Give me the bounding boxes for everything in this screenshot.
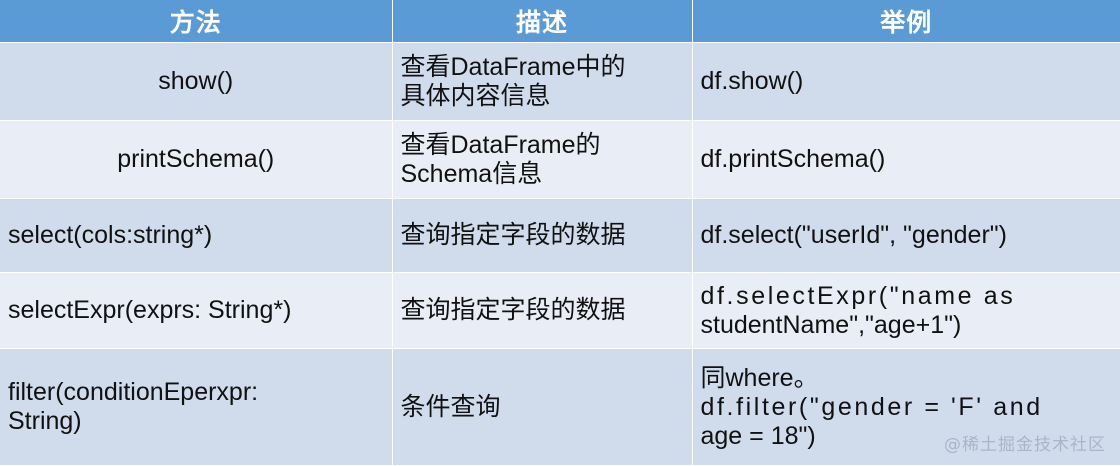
example-line: 同where。 [701,364,1113,393]
cell-method: filter(conditionEperxpr: String) [0,349,392,466]
api-method-table: 方法 描述 举例 show() 查看DataFrame中的 具体内容信息 df.… [0,0,1120,466]
description-line: 查询指定字段的数据 [401,221,684,250]
cell-method: show() [0,43,392,121]
cell-method: select(cols:string*) [0,199,392,273]
description-line: 查看DataFrame中的 [401,53,684,82]
description-line: 条件查询 [401,393,684,422]
column-header-description: 描述 [392,0,692,43]
method-name: filter(conditionEperxpr: [8,378,384,407]
example-line: studentName","age+1") [701,311,1113,340]
method-name: printSchema() [117,145,274,173]
description-line: 查询指定字段的数据 [401,296,684,325]
description-line: Schema信息 [401,160,684,189]
cell-example: df.selectExpr("name as studentName","age… [692,273,1120,349]
example-line: df.filter("gender = 'F' and [701,393,1113,422]
table-body: show() 查看DataFrame中的 具体内容信息 df.show() pr… [0,43,1120,466]
example-line: df.selectExpr("name as [701,282,1113,311]
example-line: df.printSchema() [701,145,1113,174]
table-header-row: 方法 描述 举例 [0,0,1120,43]
table-row: printSchema() 查看DataFrame的 Schema信息 df.p… [0,121,1120,199]
cell-example: df.printSchema() [692,121,1120,199]
table-row: show() 查看DataFrame中的 具体内容信息 df.show() [0,43,1120,121]
cell-method: selectExpr(exprs: String*) [0,273,392,349]
table-row: filter(conditionEperxpr: String) 条件查询 同w… [0,349,1120,466]
column-header-method: 方法 [0,0,392,43]
method-name: selectExpr(exprs: String*) [8,296,291,324]
cell-example: df.show() [692,43,1120,121]
description-line: 具体内容信息 [401,82,684,111]
example-line: age = 18") [701,422,1113,451]
column-header-example: 举例 [692,0,1120,43]
cell-method: printSchema() [0,121,392,199]
table-row: select(cols:string*) 查询指定字段的数据 df.select… [0,199,1120,273]
example-line: df.select("userId", "gender") [701,221,1113,250]
cell-description: 条件查询 [392,349,692,466]
description-line: 查看DataFrame的 [401,131,684,160]
table-header: 方法 描述 举例 [0,0,1120,43]
method-name: select(cols:string*) [8,221,212,249]
cell-example: df.select("userId", "gender") [692,199,1120,273]
api-method-table-container: 方法 描述 举例 show() 查看DataFrame中的 具体内容信息 df.… [0,0,1120,465]
cell-description: 查看DataFrame的 Schema信息 [392,121,692,199]
cell-example: 同where。 df.filter("gender = 'F' and age … [692,349,1120,466]
method-name: String) [8,407,384,436]
cell-description: 查询指定字段的数据 [392,273,692,349]
method-name: show() [158,67,233,95]
cell-description: 查询指定字段的数据 [392,199,692,273]
example-line: df.show() [701,67,1113,96]
cell-description: 查看DataFrame中的 具体内容信息 [392,43,692,121]
table-row: selectExpr(exprs: String*) 查询指定字段的数据 df.… [0,273,1120,349]
